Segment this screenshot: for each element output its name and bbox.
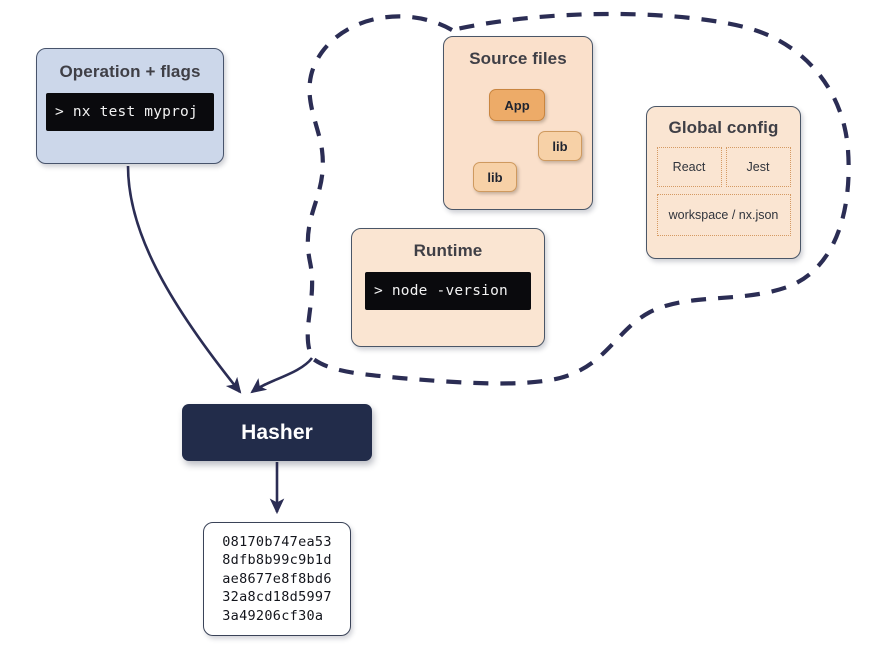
hash-output-text: 08170b747ea53 8dfb8b99c9b1d ae8677e8f8bd… <box>222 533 332 626</box>
hasher-node[interactable]: Hasher <box>182 404 372 461</box>
hasher-title: Hasher <box>241 421 313 445</box>
runtime-terminal: > node -version <box>365 272 531 310</box>
source-files-node[interactable]: Source files App lib lib <box>443 36 593 210</box>
source-node-lib-left[interactable]: lib <box>473 162 517 192</box>
global-config-cell-react[interactable]: React <box>657 147 722 187</box>
diagram-canvas: Operation + flags > nx test myproj Sourc… <box>0 0 880 654</box>
operation-terminal: > nx test myproj <box>46 93 214 131</box>
runtime-node[interactable]: Runtime > node -version <box>351 228 545 347</box>
global-config-cell-workspace[interactable]: workspace / nx.json <box>657 194 791 236</box>
hash-output-node[interactable]: 08170b747ea53 8dfb8b99c9b1d ae8677e8f8bd… <box>203 522 351 636</box>
operation-flags-node[interactable]: Operation + flags > nx test myproj <box>36 48 224 164</box>
global-config-node[interactable]: Global config React Jest workspace / nx.… <box>646 106 801 259</box>
arrow-operation-to-hasher <box>128 166 240 392</box>
source-node-lib-right[interactable]: lib <box>538 131 582 161</box>
runtime-command-text: > node -version <box>374 283 508 299</box>
runtime-title: Runtime <box>414 241 483 261</box>
operation-command-text: > nx test myproj <box>55 104 198 120</box>
source-files-title: Source files <box>469 49 567 69</box>
global-config-title: Global config <box>669 118 779 138</box>
global-config-cell-jest[interactable]: Jest <box>726 147 791 187</box>
arrow-inputs-to-hasher <box>252 358 312 392</box>
operation-flags-title: Operation + flags <box>59 62 200 82</box>
global-config-row-top: React Jest <box>657 147 791 187</box>
source-node-app[interactable]: App <box>489 89 545 121</box>
